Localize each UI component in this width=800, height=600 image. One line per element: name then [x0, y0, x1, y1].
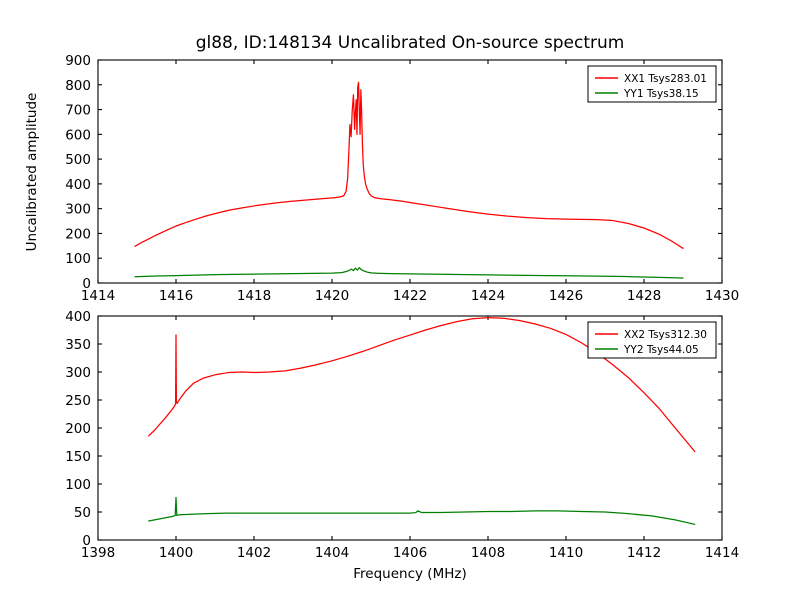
y-axis-label: Uncalibrated amplitude [24, 93, 40, 252]
x-tick-label-top-1: 1416 [159, 288, 193, 304]
y-tick-label-bottom-0: 0 [82, 533, 91, 549]
y-tick-label-top-4: 400 [65, 177, 91, 193]
x-tick-label-top-5: 1424 [471, 288, 505, 304]
y-tick-label-bottom-6: 300 [65, 365, 91, 381]
y-tick-label-bottom-5: 250 [65, 393, 91, 409]
series-group-top: XX1 Tsys283.01YY1 Tsys38.15 [135, 66, 716, 278]
x-tick-label-bottom-5: 1408 [471, 545, 505, 561]
series-line-top-1 [135, 268, 683, 278]
y-tick-label-bottom-8: 400 [65, 309, 91, 325]
figure-canvas: gl88, ID:148134 Uncalibrated On-source s… [0, 0, 800, 600]
legend-label-top-1: YY1 Tsys38.15 [623, 88, 699, 100]
x-tick-label-top-6: 1426 [549, 288, 583, 304]
y-tick-label-top-3: 300 [65, 202, 91, 218]
x-tick-label-bottom-7: 1412 [627, 545, 661, 561]
series-line-bottom-1 [149, 497, 695, 524]
y-tick-label-bottom-2: 100 [65, 477, 91, 493]
spectrum-figure: gl88, ID:148134 Uncalibrated On-source s… [0, 0, 800, 600]
y-tick-label-top-9: 900 [65, 53, 91, 69]
figure-title: gl88, ID:148134 Uncalibrated On-source s… [196, 33, 625, 53]
series-line-top-0 [135, 82, 683, 248]
x-tick-label-top-2: 1418 [237, 288, 271, 304]
y-tick-label-bottom-1: 50 [74, 505, 91, 521]
x-tick-label-top-3: 1420 [315, 288, 349, 304]
y-tick-label-top-1: 100 [65, 251, 91, 267]
legend-bottom: XX2 Tsys312.30YY2 Tsys44.05 [588, 322, 716, 358]
y-tick-label-top-8: 800 [65, 78, 91, 94]
y-tick-label-top-2: 200 [65, 226, 91, 242]
y-tick-label-bottom-7: 350 [65, 337, 91, 353]
y-tick-label-top-7: 700 [65, 103, 91, 119]
x-tick-label-bottom-2: 1402 [237, 545, 271, 561]
x-tick-label-bottom-1: 1400 [159, 545, 193, 561]
x-axis-label: Frequency (MHz) [353, 566, 466, 582]
y-tick-label-bottom-4: 200 [65, 421, 91, 437]
legend-label-top-0: XX1 Tsys283.01 [624, 73, 707, 85]
y-tick-label-bottom-3: 150 [65, 449, 91, 465]
plot-panel-bottom: 1398140014021404140614081410141214140501… [65, 309, 739, 561]
x-tick-label-top-8: 1430 [705, 288, 739, 304]
x-tick-label-bottom-6: 1410 [549, 545, 583, 561]
plot-panel-top: 1414141614181420142214241426142814300100… [65, 53, 739, 304]
y-tick-label-top-5: 500 [65, 152, 91, 168]
legend-label-bottom-1: YY2 Tsys44.05 [623, 344, 699, 356]
x-tick-label-bottom-3: 1404 [315, 545, 349, 561]
x-tick-label-bottom-8: 1414 [705, 545, 739, 561]
y-tick-label-top-6: 600 [65, 127, 91, 143]
y-tick-label-top-0: 0 [82, 276, 91, 292]
legend-label-bottom-0: XX2 Tsys312.30 [624, 329, 707, 341]
legend-top: XX1 Tsys283.01YY1 Tsys38.15 [588, 66, 716, 102]
x-tick-label-bottom-4: 1406 [393, 545, 427, 561]
series-group-bottom: XX2 Tsys312.30YY2 Tsys44.05 [149, 318, 716, 525]
x-tick-label-top-7: 1428 [627, 288, 661, 304]
x-tick-label-top-4: 1422 [393, 288, 427, 304]
